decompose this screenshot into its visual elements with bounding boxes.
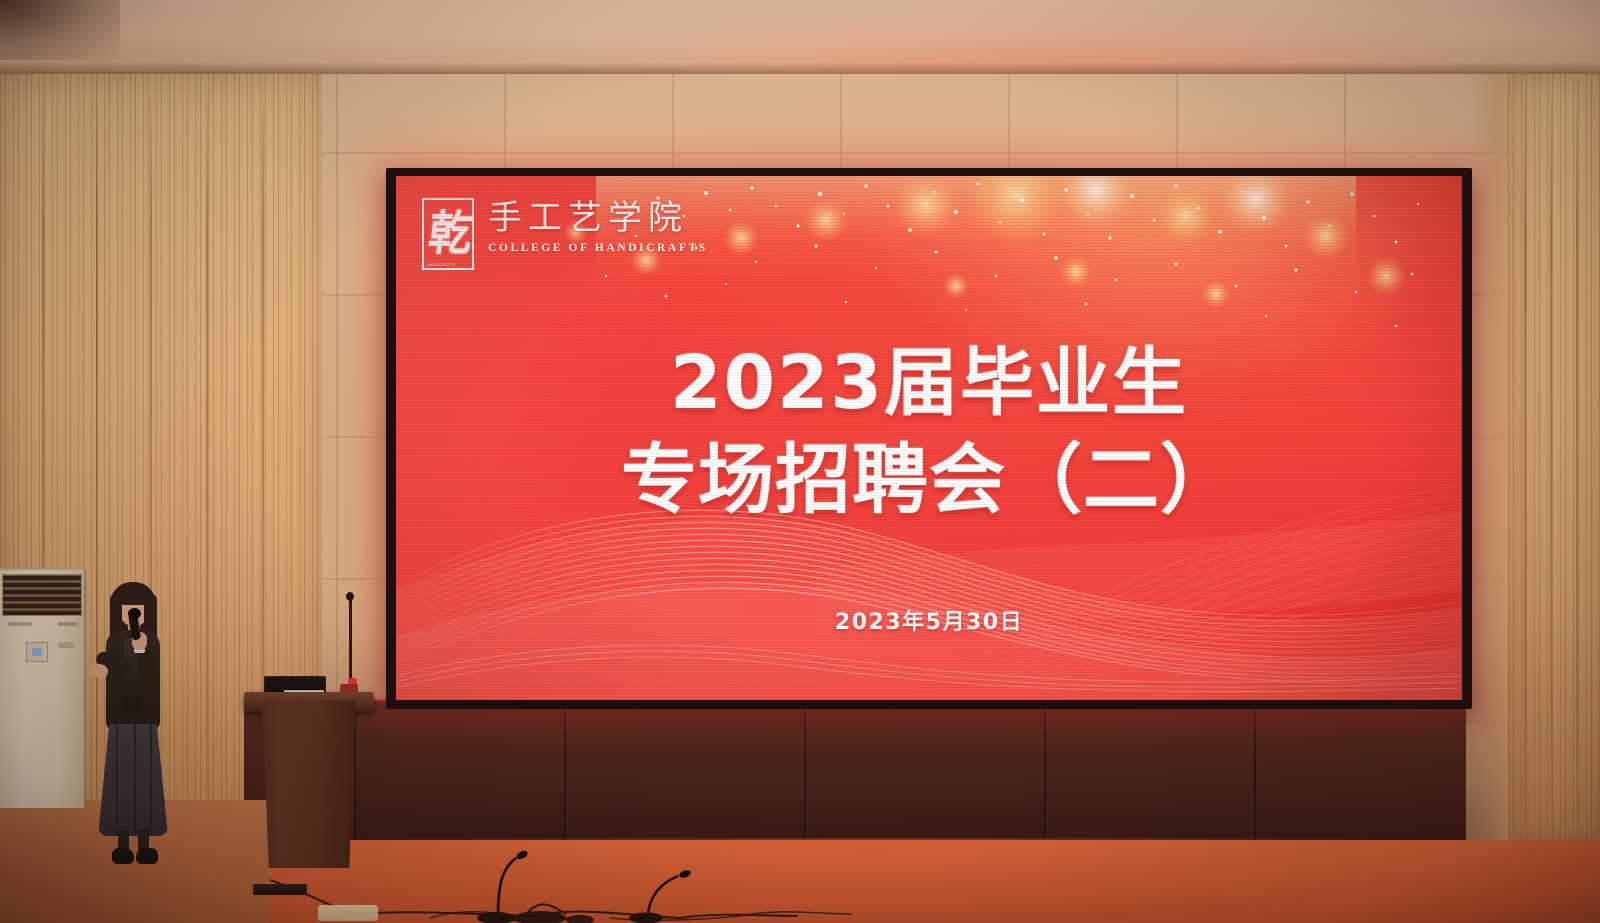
presenter-skirt [98,724,168,836]
headline-line-1: 2023届毕业生 [396,336,1462,431]
college-name-en: COLLEGE OF HANDICRAFTS [488,242,708,254]
seal-glyph: 乾 [426,210,470,257]
ac-label-right [58,622,78,626]
power-strip [253,884,307,895]
seal-microtext: HANDICRAFTS [427,263,456,267]
gooseneck-mic-2-capsule [678,869,692,879]
presenter [82,580,182,880]
college-name-cn: 手工艺学院 [488,200,708,237]
podium-mic-boom-tip [346,592,354,601]
floor-paper [318,905,378,921]
ac-label-left [8,622,32,626]
ac-label-right-2 [58,642,74,648]
slide-headline: 2023届毕业生 专场招聘会（二） [396,336,1462,528]
gooseneck-mic-1-stem [498,858,516,918]
ac-display-panel [26,642,48,662]
gooseneck-mic-2-base [629,913,663,923]
gooseneck-mic-1-capsule [515,849,529,861]
ceiling-corner-shadow [0,0,120,60]
presenter-right-shoe [136,848,158,864]
college-seal-icon: 乾 HANDICRAFTS [422,198,474,270]
photo-scene: 乾 HANDICRAFTS 手工艺学院 COLLEGE OF HANDICRAF… [0,0,1600,923]
presenter-left-shoe [112,848,134,864]
podium-mic-boom [349,598,352,684]
event-date: 2023年5月30日 [396,604,1462,636]
ac-vent-louvers-icon [2,574,82,616]
air-conditioner-unit [0,568,86,808]
microphone-head-icon [128,608,141,619]
floor-audio-setup [180,818,1080,923]
curtain-right [1508,74,1600,864]
headline-line-2: 专场招聘会（二） [396,431,1462,528]
college-logo-lockup: 乾 HANDICRAFTS 手工艺学院 COLLEGE OF HANDICRAF… [422,198,708,270]
ceiling [0,0,1600,80]
led-screen[interactable]: 乾 HANDICRAFTS 手工艺学院 COLLEGE OF HANDICRAF… [396,176,1462,700]
gooseneck-mic-2-stem [648,876,678,918]
